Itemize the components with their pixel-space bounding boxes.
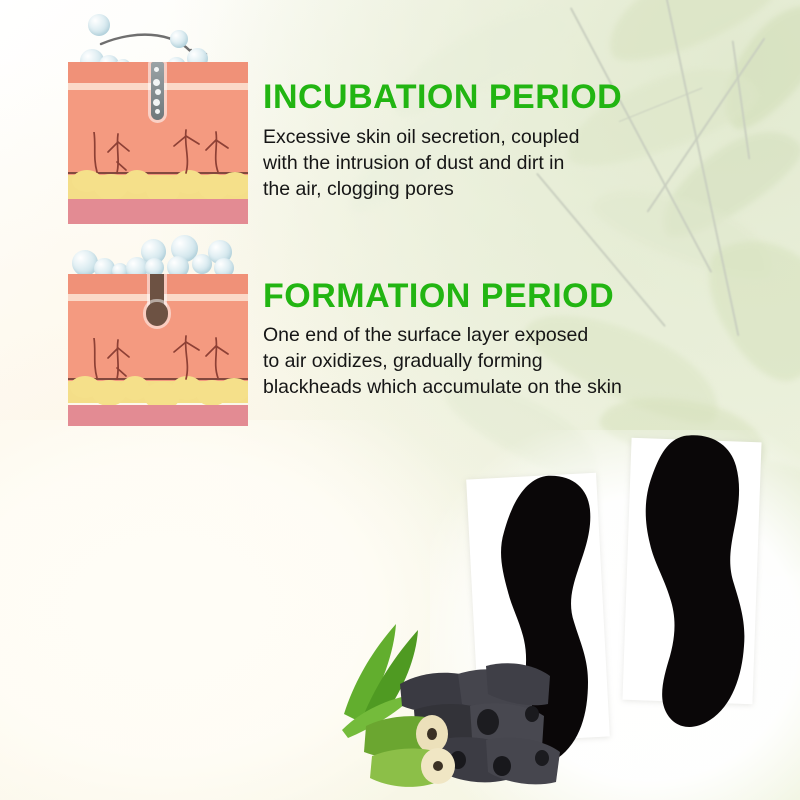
bubble-icon: [170, 30, 188, 48]
bamboo-stalk: [364, 715, 455, 787]
sebum-particle: [154, 67, 159, 72]
body-formation: One end of the surface layer exposed to …: [263, 322, 622, 400]
illustration-incubation: [68, 8, 248, 224]
skin-cross-section: [68, 274, 248, 426]
heading-formation: FORMATION PERIOD: [263, 277, 614, 316]
sebum-particle: [153, 79, 160, 86]
body-incubation: Excessive skin oil secretion, coupled wi…: [263, 124, 580, 202]
infographic-canvas: INCUBATION PERIOD Excessive skin oil sec…: [0, 0, 800, 800]
skin-cross-section: [68, 62, 248, 224]
nose-strip-right: [628, 432, 768, 740]
sebum-particle: [155, 89, 161, 95]
heading-incubation: INCUBATION PERIOD: [263, 78, 622, 117]
sebum-particle: [155, 109, 160, 114]
bamboo-charcoal-pile: [336, 618, 564, 800]
bubble-icon: [88, 14, 110, 36]
blood-vessel-icon: [168, 128, 240, 176]
blood-vessel-icon: [168, 334, 240, 382]
body-line: with the intrusion of dust and dirt in: [263, 150, 580, 176]
body-line: blackheads which accumulate on the skin: [263, 374, 622, 400]
body-line: One end of the surface layer exposed: [263, 322, 622, 348]
illustration-formation: [68, 232, 248, 426]
blood-vessel-icon: [88, 132, 158, 177]
muscle-layer: [68, 405, 248, 426]
blackhead-plug-bulb: [146, 302, 168, 326]
body-line: to air oxidizes, gradually forming: [263, 348, 622, 374]
body-line: Excessive skin oil secretion, coupled: [263, 124, 580, 150]
muscle-layer: [68, 199, 248, 224]
sebum-particle: [153, 99, 160, 106]
body-line: the air, clogging pores: [263, 176, 580, 202]
blood-vessel-icon: [88, 338, 158, 383]
